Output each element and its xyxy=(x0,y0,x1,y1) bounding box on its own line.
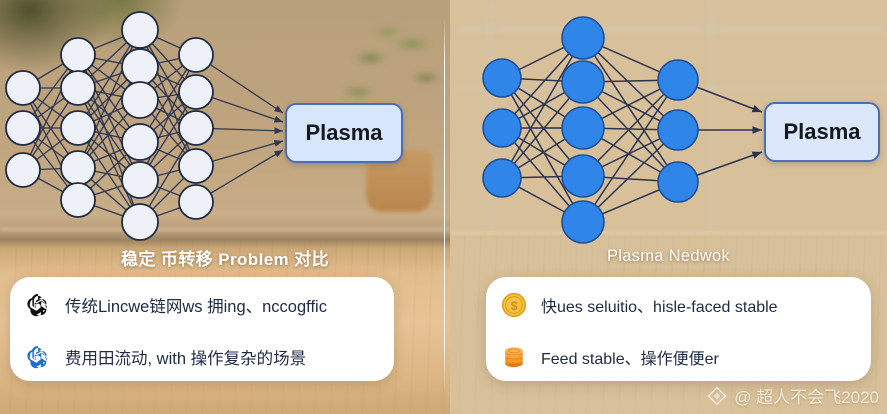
list-item-text: 传统Lincwe链网ws 拥ing、nccogffic xyxy=(65,293,327,317)
left-output-box: Plasma xyxy=(285,103,403,163)
right-output-box: Plasma xyxy=(764,102,880,162)
right-network-diagram: Plasma xyxy=(450,0,887,246)
diamond-logo-icon xyxy=(706,385,728,407)
right-panel: Plasma Plasma Nedwok $ 快ues seluitio、his… xyxy=(450,0,887,414)
right-section-title: Plasma Nedwok xyxy=(450,247,887,266)
list-item[interactable]: Feed stable、操作便便er xyxy=(486,331,871,383)
watermark-text: @ 超人不会飞2020 xyxy=(734,383,879,408)
list-item-text: Feed stable、操作便便er xyxy=(541,345,719,369)
svg-text:$: $ xyxy=(511,299,518,313)
right-output-label: Plasma xyxy=(783,119,860,145)
screenshot-canvas: Plasma 稳定 币转移 Problem 对比 传统Lincwe链网ws 拥i… xyxy=(0,0,887,414)
right-bullet-card: $ 快ues seluitio、hisle-faced stable Feed … xyxy=(486,277,871,381)
list-item-text: 费用田流动, with 操作复杂的场景 xyxy=(65,345,306,369)
gold-coin-icon: $ xyxy=(500,291,528,319)
left-panel: Plasma 稳定 币转移 Problem 对比 传统Lincwe链网ws 拥i… xyxy=(0,0,450,414)
list-item-text: 快ues seluitio、hisle-faced stable xyxy=(541,293,778,317)
openai-logo-icon xyxy=(24,343,52,371)
coin-stack-icon xyxy=(500,343,528,371)
list-item[interactable]: $ 快ues seluitio、hisle-faced stable xyxy=(486,279,871,331)
watermark: @ 超人不会飞2020 xyxy=(706,383,879,408)
list-item[interactable]: 传统Lincwe链网ws 拥ing、nccogffic xyxy=(10,279,394,331)
left-bullet-card: 传统Lincwe链网ws 拥ing、nccogffic 费用田流动, with … xyxy=(10,277,394,381)
list-item[interactable]: 费用田流动, with 操作复杂的场景 xyxy=(10,331,394,383)
openai-logo-icon xyxy=(24,291,52,319)
left-network-diagram: Plasma xyxy=(0,0,450,246)
left-section-title: 稳定 币转移 Problem 对比 xyxy=(0,245,450,270)
left-output-label: Plasma xyxy=(305,120,382,146)
